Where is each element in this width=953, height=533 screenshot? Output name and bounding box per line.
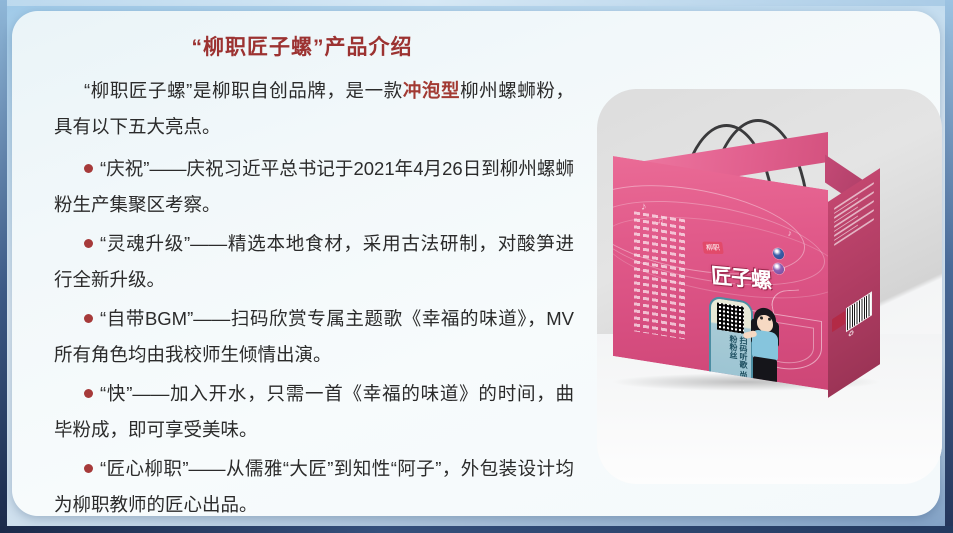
bullet-dot-icon — [84, 389, 93, 398]
list-item: “庆祝”——庆祝习近平总书记于2021年4月26日到柳州螺蛳粉生产集聚区考察。 — [54, 151, 574, 223]
slide-frame-left — [0, 0, 7, 533]
box-front-face: ♪ ♫ ♪ 匠子螺 ® 柳职 — [613, 156, 828, 390]
music-note-icon: ♪ — [641, 200, 647, 213]
bullet-text: “自带BGM”——扫码欣赏专属主题歌《幸福的味道》，MV所有角色均由我校师生倾情… — [54, 308, 574, 365]
barcode-icon — [846, 291, 872, 332]
slide-frame-top — [0, 0, 953, 6]
box-vertical-copy — [619, 209, 685, 339]
bullet-text: “快”——加入开水，只需一首《幸福的味道》的时间，曲毕粉成，即可享受美味。 — [54, 383, 574, 440]
slide-title: “柳职匠子螺”产品介绍 — [12, 31, 592, 61]
box-side-face: ♻ — [828, 168, 880, 398]
intro-highlight: 冲泡型 — [403, 80, 460, 101]
logo-wordmark — [787, 255, 828, 264]
product-photo: ♪ ♫ ♪ 匠子螺 ® 柳职 — [597, 89, 942, 484]
bullet-dot-icon — [84, 464, 93, 473]
slide-frame-bottom — [0, 526, 953, 533]
list-item: “快”——加入开水，只需一首《幸福的味道》的时间，曲毕粉成，即可享受美味。 — [54, 376, 574, 448]
content-card: “柳职匠子螺”产品介绍 “柳职匠子螺”是柳职自创品牌，是一款冲泡型柳州螺蛳粉，具… — [12, 11, 940, 516]
mascot-eye-right — [768, 318, 771, 321]
qr-code-icon — [717, 302, 744, 333]
slide-canvas: “柳职匠子螺”产品介绍 “柳职匠子螺”是柳职自创品牌，是一款冲泡型柳州螺蛳粉，具… — [0, 0, 953, 533]
bullet-dot-icon — [84, 239, 93, 248]
highlights-list: “庆祝”——庆祝习近平总书记于2021年4月26日到柳州螺蛳粉生产集聚区考察。 … — [54, 151, 574, 523]
brand-name: 匠子螺 — [710, 259, 772, 295]
quality-seal-icon — [832, 311, 845, 332]
list-item: “灵魂升级”——精选本地食材，采用古法研制，对酸笋进行全新升级。 — [54, 226, 574, 298]
bullet-dot-icon — [84, 314, 93, 323]
mascot-character — [745, 305, 785, 390]
intro-text-before: “柳职匠子螺”是柳职自创品牌，是一款 — [84, 80, 403, 101]
music-note-icon: ♪ — [788, 228, 793, 239]
bullet-text: “灵魂升级”——精选本地食材，采用古法研制，对酸笋进行全新升级。 — [54, 233, 574, 290]
mascot-eye-left — [760, 316, 763, 319]
brand-badge: 柳职 — [702, 242, 723, 255]
university-seal-icon — [773, 247, 784, 260]
list-item: “匠心柳职”——从儒雅“大匠”到知性“阿子”，外包装设计均为柳职教师的匠心出品。 — [54, 451, 574, 523]
bullet-dot-icon — [84, 164, 93, 173]
logo-wordmark — [787, 270, 828, 279]
bullet-text: “匠心柳职”——从儒雅“大匠”到知性“阿子”，外包装设计均为柳职教师的匠心出品。 — [54, 458, 574, 515]
bullet-text: “庆祝”——庆祝习近平总书记于2021年4月26日到柳州螺蛳粉生产集聚区考察。 — [54, 158, 574, 215]
slide-body: “柳职匠子螺”是柳职自创品牌，是一款冲泡型柳州螺蛳粉，具有以下五大亮点。 “庆祝… — [54, 73, 574, 526]
slide-frame-right — [945, 0, 953, 533]
list-item: “自带BGM”——扫码欣赏专属主题歌《幸福的味道》，MV所有角色均由我校师生倾情… — [54, 301, 574, 373]
gift-box: ♪ ♫ ♪ 匠子螺 ® 柳职 — [597, 89, 942, 484]
college-seal-icon — [773, 262, 784, 275]
intro-paragraph: “柳职匠子螺”是柳职自创品牌，是一款冲泡型柳州螺蛳粉，具有以下五大亮点。 — [54, 73, 574, 145]
